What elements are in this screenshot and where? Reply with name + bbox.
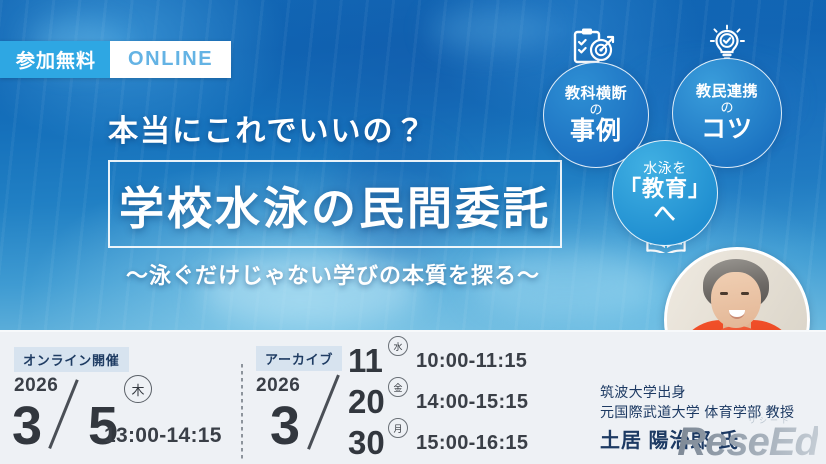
online-day-of-week: 木: [124, 375, 152, 403]
archive-time-3: 15:00-16:15: [416, 432, 528, 455]
speaker-affiliation-2: 元国際武道大学 体育学部 教授: [600, 402, 820, 422]
list-item: 20 金 14:00-15:15: [348, 385, 578, 423]
speaker-credit: 筑波大学出身 元国際武道大学 体育学部 教授 土居 陽治郎 氏: [600, 382, 820, 453]
bubble-education: 水泳を 「教育」へ: [612, 140, 718, 246]
speaker-name: 土居 陽治郎 氏: [600, 424, 820, 453]
online-month: 3: [12, 399, 42, 453]
speaker-affiliation-1: 筑波大学出身: [600, 382, 820, 402]
portrait-eye-left: [720, 292, 728, 295]
online-time: 13:00-14:15: [104, 424, 222, 448]
archive-date-list: 11 水 10:00-11:15 20 金 14:00-15:15 30 月 1…: [348, 344, 578, 464]
bubble-education-top: 水泳を: [643, 160, 687, 176]
headline-subtitle: 〜泳ぐだけじゃない学びの本質を探る〜: [108, 258, 558, 290]
list-item: 11 水 10:00-11:15: [348, 344, 578, 382]
online-label: ONLINE: [110, 41, 231, 78]
bubble-tips-top: 教民連携: [696, 83, 758, 100]
headline-kicker: 本当にこれでいいの？: [108, 106, 427, 150]
list-item: 30 月 15:00-16:15: [348, 426, 578, 464]
portrait-eye-right: [741, 292, 749, 295]
panel-divider: [0, 330, 826, 332]
archive-year: 2026: [256, 375, 300, 397]
page-title: 学校水泳の民間委託: [119, 172, 551, 237]
online-year: 2026: [14, 375, 58, 397]
free-online-badge: 参加無料 ONLINE: [0, 41, 231, 78]
headline-title-box: 学校水泳の民間委託: [108, 160, 562, 248]
portrait-face: [711, 272, 761, 328]
archive-time-2: 14:00-15:15: [416, 391, 528, 414]
webinar-banner: 参加無料 ONLINE 本当にこれでいいの？ 学校水泳の民間委託 〜泳ぐだけじゃ…: [0, 0, 826, 464]
archive-dow-1: 水: [388, 336, 408, 356]
archive-day-3: 30: [348, 426, 385, 459]
archive-day-1: 11: [348, 344, 383, 377]
archive-dow-2: 金: [388, 377, 408, 397]
chip-online-session: オンライン開催: [14, 347, 129, 372]
bubble-tips-mid: の: [720, 100, 733, 116]
chip-archive: アーカイブ: [256, 346, 342, 371]
archive-month: 3: [270, 399, 300, 453]
bubble-cases-mid: の: [589, 102, 602, 118]
bubble-cases-top: 教科横断: [565, 85, 627, 102]
bubble-tips-big: コツ: [701, 116, 753, 144]
archive-day-2: 20: [348, 385, 385, 418]
bubble-cases-big: 事例: [570, 118, 622, 146]
free-label: 参加無料: [0, 41, 110, 78]
archive-time-1: 10:00-11:15: [416, 350, 527, 373]
archive-dow-3: 月: [388, 418, 408, 438]
schedule-dotted-divider: [241, 364, 243, 460]
bubble-education-big: 「教育」へ: [613, 177, 717, 225]
